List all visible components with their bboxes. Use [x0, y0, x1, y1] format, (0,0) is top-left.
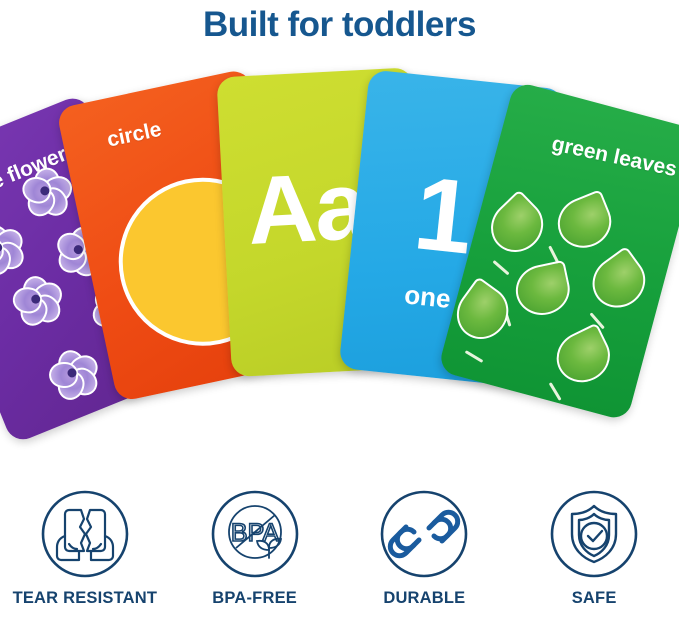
feature-caption: DURABLE [383, 589, 465, 608]
feature-badges-row: TEAR RESISTANT BPA BPA-FREE [0, 488, 679, 621]
flower-illustration [41, 343, 101, 403]
leaf-illustration [588, 251, 652, 325]
page-title: Built for toddlers [0, 0, 679, 50]
flower-illustration [0, 217, 27, 277]
feature-durable: DURABLE [340, 488, 510, 621]
flashcard-label-circle: circle [105, 118, 164, 153]
flashcard-label-green-leaves: green leaves [550, 132, 679, 182]
leaf-illustration [454, 282, 518, 356]
leaf-illustration [547, 323, 620, 403]
bpa-badge-text: BPA [231, 519, 279, 547]
safe-shield-check-icon [548, 488, 640, 580]
feature-caption: SAFE [572, 589, 617, 608]
feature-tear-resistant: TEAR RESISTANT [0, 488, 170, 621]
feature-caption: TEAR RESISTANT [13, 589, 158, 608]
feature-caption: BPA-FREE [212, 589, 297, 608]
feature-bpa-free: BPA BPA-FREE [170, 488, 340, 621]
flashcard-fan: purple flowers [0, 60, 679, 480]
bpa-free-icon: BPA [209, 488, 301, 580]
feature-safe: SAFE [509, 488, 679, 621]
flashcard-letter-aa: Aa [245, 158, 369, 260]
durable-chain-link-icon [378, 488, 470, 580]
flower-illustration [5, 269, 65, 329]
tear-resistant-icon [39, 488, 131, 580]
flashcard-word-one: one [403, 279, 452, 315]
